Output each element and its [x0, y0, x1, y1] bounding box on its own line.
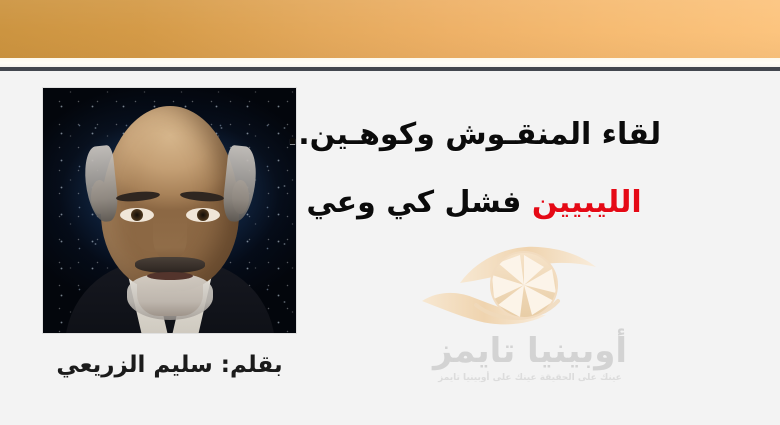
- banner-sheen: [0, 0, 780, 58]
- author-portrait: [43, 88, 296, 333]
- portrait-iris-right: [197, 209, 209, 221]
- headline-block: لقاء المنقـوش وكوهـين.. الليبيين فشل كي …: [264, 118, 684, 219]
- portrait-subject: [43, 88, 296, 333]
- portrait-iris-left: [131, 209, 143, 221]
- watermark-tagline: عينك على الحقيقة عينك على أوبينيا تايمز: [380, 373, 680, 383]
- headline-line-2-text: فشل كي وعي: [306, 185, 521, 220]
- banner-light-strip: [0, 58, 780, 67]
- headline-line-2: الليبيين فشل كي وعي: [264, 186, 684, 220]
- author-byline: بقلم: سليم الزريعي: [43, 352, 296, 378]
- headline-highlight-word: الليبيين: [532, 185, 642, 220]
- site-watermark: أوبينيا تايمز عينك على الحقيقة عينك على …: [380, 243, 680, 383]
- portrait-mustache: [135, 257, 205, 273]
- watermark-title: أوبينيا تايمز: [380, 331, 680, 371]
- portrait-beard: [127, 274, 213, 320]
- headline-line-1: لقاء المنقـوش وكوهـين..: [264, 118, 684, 152]
- article-header-card: بقلم: سليم الزريعي لقاء المنقـوش وكوهـين…: [0, 0, 780, 425]
- banner-divider-rule: [0, 67, 780, 71]
- portrait-mouth: [147, 272, 193, 280]
- decorative-top-banner: [0, 0, 780, 58]
- portrait-eye-left: [120, 208, 154, 222]
- portrait-nose: [153, 214, 187, 262]
- eye-aperture-logo: [380, 243, 680, 335]
- portrait-eye-right: [186, 208, 220, 222]
